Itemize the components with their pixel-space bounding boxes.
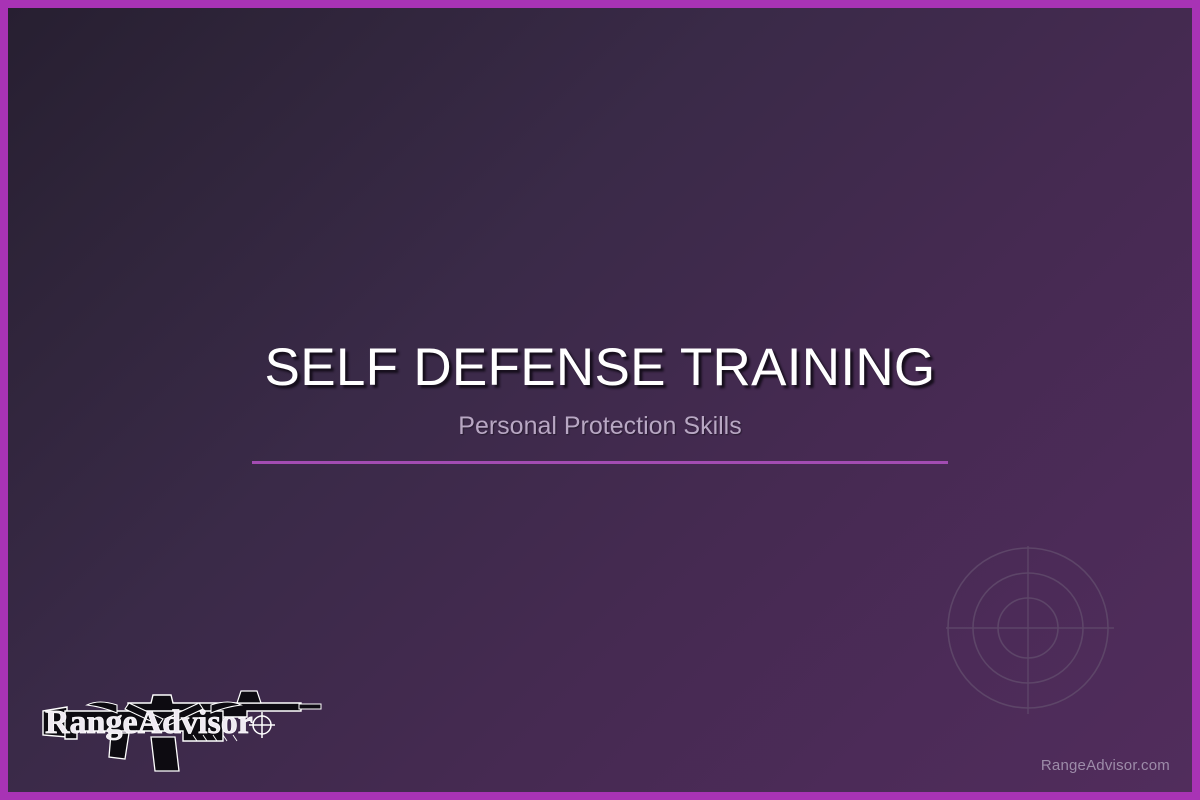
logo-wordmark: RangeAdvisor [45,704,253,741]
title-block: SELF DEFENSE TRAINING Personal Protectio… [8,340,1192,464]
rangeadvisor-logo: RangeAdvisor [33,673,323,773]
title-divider [252,461,948,464]
page-title: SELF DEFENSE TRAINING [8,340,1192,395]
site-credit: RangeAdvisor.com [1041,757,1170,774]
crosshair-target-rings-icon [932,532,1124,724]
title-slide: SELF DEFENSE TRAINING Personal Protectio… [0,0,1200,800]
page-subtitle: Personal Protection Skills [8,413,1192,441]
